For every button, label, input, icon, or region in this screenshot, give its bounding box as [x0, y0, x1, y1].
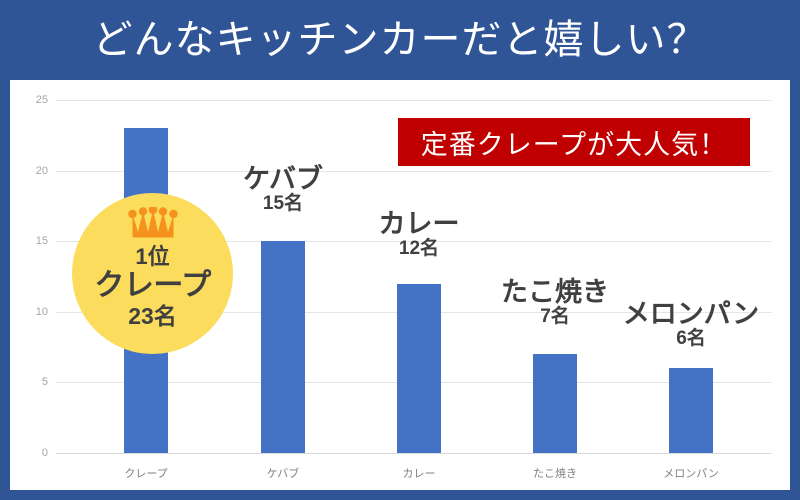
rank-badge-name: クレープ	[94, 269, 210, 303]
highlight-banner-text: 定番クレープが大人気！	[421, 123, 727, 162]
bar-kebab[interactable]	[261, 241, 305, 453]
bar-melonpan[interactable]	[669, 368, 713, 453]
bar-takoyaki[interactable]	[533, 354, 577, 453]
y-tick-label-10: 10	[36, 306, 48, 318]
y-tick-label-15: 15	[36, 235, 48, 247]
data-label-kebab-name: ケバブ	[193, 165, 373, 194]
data-label-kebab: ケバブ 15名	[193, 165, 373, 215]
gridline-25: 25	[56, 100, 772, 101]
header-bar: どんなキッチンカーだと嬉しい？	[0, 0, 800, 80]
infographic-frame: どんなキッチンカーだと嬉しい？ 25 20 15 10 5 0	[0, 0, 800, 500]
x-tick-label-crepe: クレープ	[81, 465, 211, 481]
y-tick-label-25: 25	[36, 94, 48, 106]
crown-icon	[127, 207, 179, 244]
data-label-melonpan: メロンパン 6名	[601, 300, 781, 350]
data-label-melonpan-name: メロンパン	[601, 300, 781, 329]
rank-badge: 1位 クレープ 23名	[72, 193, 233, 354]
y-tick-label-5: 5	[42, 376, 48, 388]
data-label-curry-name: カレー	[329, 210, 509, 239]
gridline-0: 0	[56, 453, 772, 454]
x-tick-label-takoyaki: たこ焼き	[490, 465, 620, 481]
x-tick-label-kebab: ケバブ	[218, 465, 348, 481]
data-label-melonpan-count: 6名	[601, 329, 781, 350]
rank-badge-rank: 1位	[135, 245, 169, 269]
y-tick-label-0: 0	[42, 447, 48, 459]
page-title: どんなキッチンカーだと嬉しい？	[93, 20, 708, 60]
bar-curry[interactable]	[397, 284, 441, 453]
x-tick-label-curry: カレー	[354, 465, 484, 481]
y-tick-label-20: 20	[36, 165, 48, 177]
data-label-curry: カレー 12名	[329, 210, 509, 260]
data-label-curry-count: 12名	[329, 239, 509, 260]
highlight-banner: 定番クレープが大人気！	[398, 118, 750, 166]
rank-badge-count: 23名	[128, 303, 177, 329]
x-tick-label-melonpan: メロンパン	[626, 465, 756, 481]
